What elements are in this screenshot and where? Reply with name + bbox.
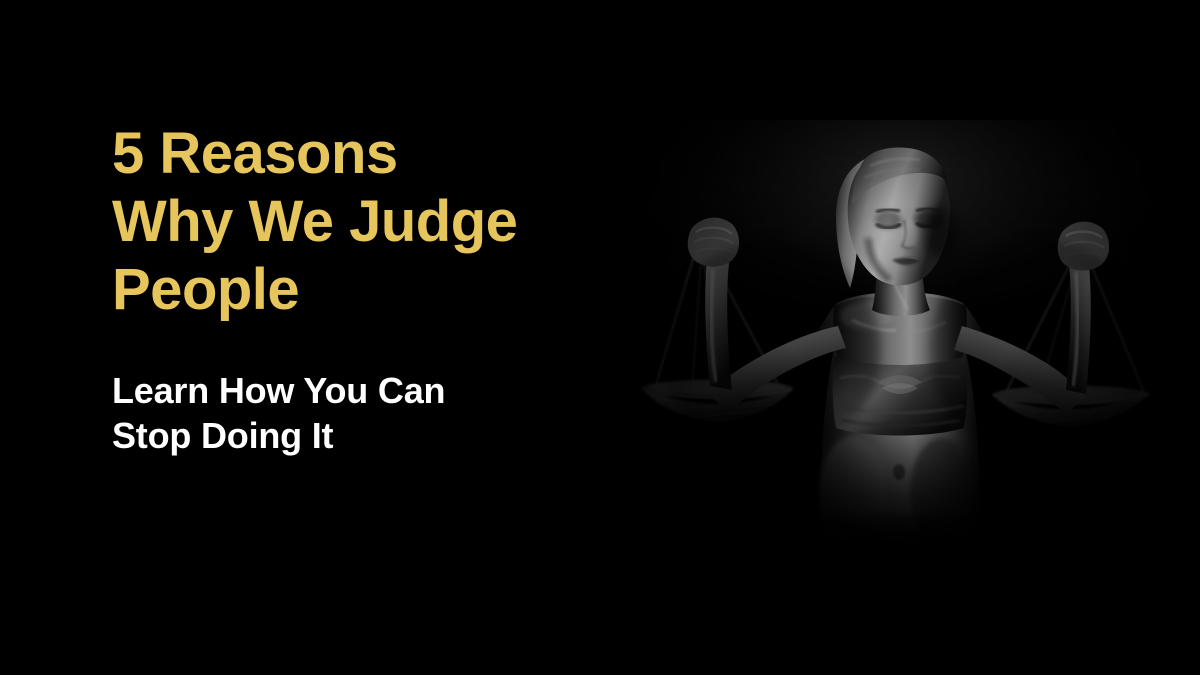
page-title: 5 Reasons Why We Judge People xyxy=(112,120,632,324)
blog-banner: 5 Reasons Why We Judge People Learn How … xyxy=(0,0,1200,675)
page-subtitle: Learn How You Can Stop Doing It xyxy=(112,324,632,458)
lady-justice-illustration xyxy=(620,120,1180,560)
lady-justice-photo xyxy=(620,120,1180,560)
text-block: 5 Reasons Why We Judge People Learn How … xyxy=(112,120,632,458)
